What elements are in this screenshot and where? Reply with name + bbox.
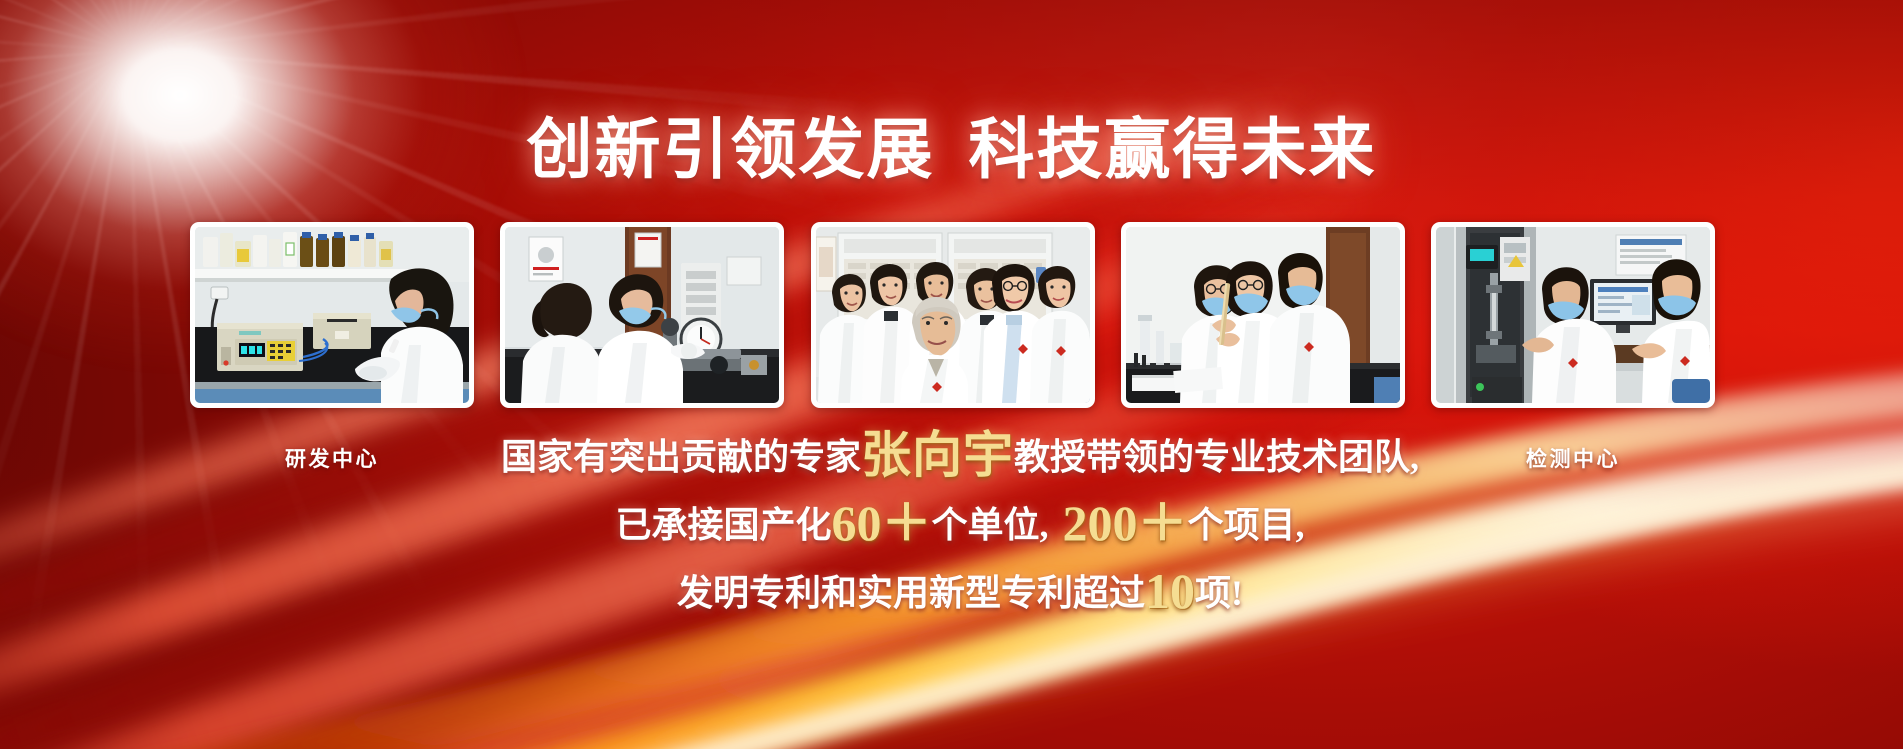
copy-line2-highlight-1: 60＋: [831, 495, 931, 551]
page-title: 创新引领发展科技赢得未来: [0, 96, 1903, 192]
photo-testing-machine: [1436, 227, 1710, 403]
photo-sample-observation: [1126, 227, 1400, 403]
copy-line2-highlight-2: 200＋: [1063, 495, 1188, 551]
headline-part-1: 创新引领发展: [527, 112, 935, 186]
photo-frame-5[interactable]: [1431, 222, 1715, 408]
copy-line1-highlight: 张向宇: [861, 427, 1014, 483]
promo-copy: 国家有突出贡献的专家张向宇教授带领的专业技术团队, 已承接国产化60＋个单位,2…: [430, 430, 1490, 634]
copy-line3-before: 发明专利和实用新型专利超过: [677, 573, 1145, 613]
copy-line2-before: 已承接国产化: [615, 505, 831, 545]
photo-precision-measurement: [505, 227, 779, 403]
copy-line-2: 已承接国产化60＋个单位,200＋个项目,: [430, 498, 1490, 548]
photo-frame-4[interactable]: [1121, 222, 1405, 408]
copy-line2-after: 个项目,: [1188, 505, 1305, 545]
copy-line2-middle: 个单位,: [931, 505, 1048, 545]
photo-frame-3[interactable]: [811, 222, 1095, 408]
photo-frame-1[interactable]: [190, 222, 474, 408]
photo-rd-lab-instrument: [195, 227, 469, 403]
copy-line3-after: 项!: [1195, 573, 1243, 613]
photo-gallery: [190, 222, 1715, 408]
copy-line1-after: 教授带领的专业技术团队,: [1014, 437, 1419, 477]
promo-banner: 创新引领发展科技赢得未来: [0, 0, 1903, 749]
copy-line1-before: 国家有突出贡献的专家: [501, 437, 861, 477]
headline-part-2: 科技赢得未来: [969, 112, 1377, 186]
copy-line-1: 国家有突出贡献的专家张向宇教授带领的专业技术团队,: [430, 430, 1490, 480]
photo-team-group: [816, 227, 1090, 403]
copy-line-3: 发明专利和实用新型专利超过10项!: [430, 566, 1490, 616]
copy-line3-highlight: 10: [1145, 563, 1195, 619]
photo-frame-2[interactable]: [500, 222, 784, 408]
